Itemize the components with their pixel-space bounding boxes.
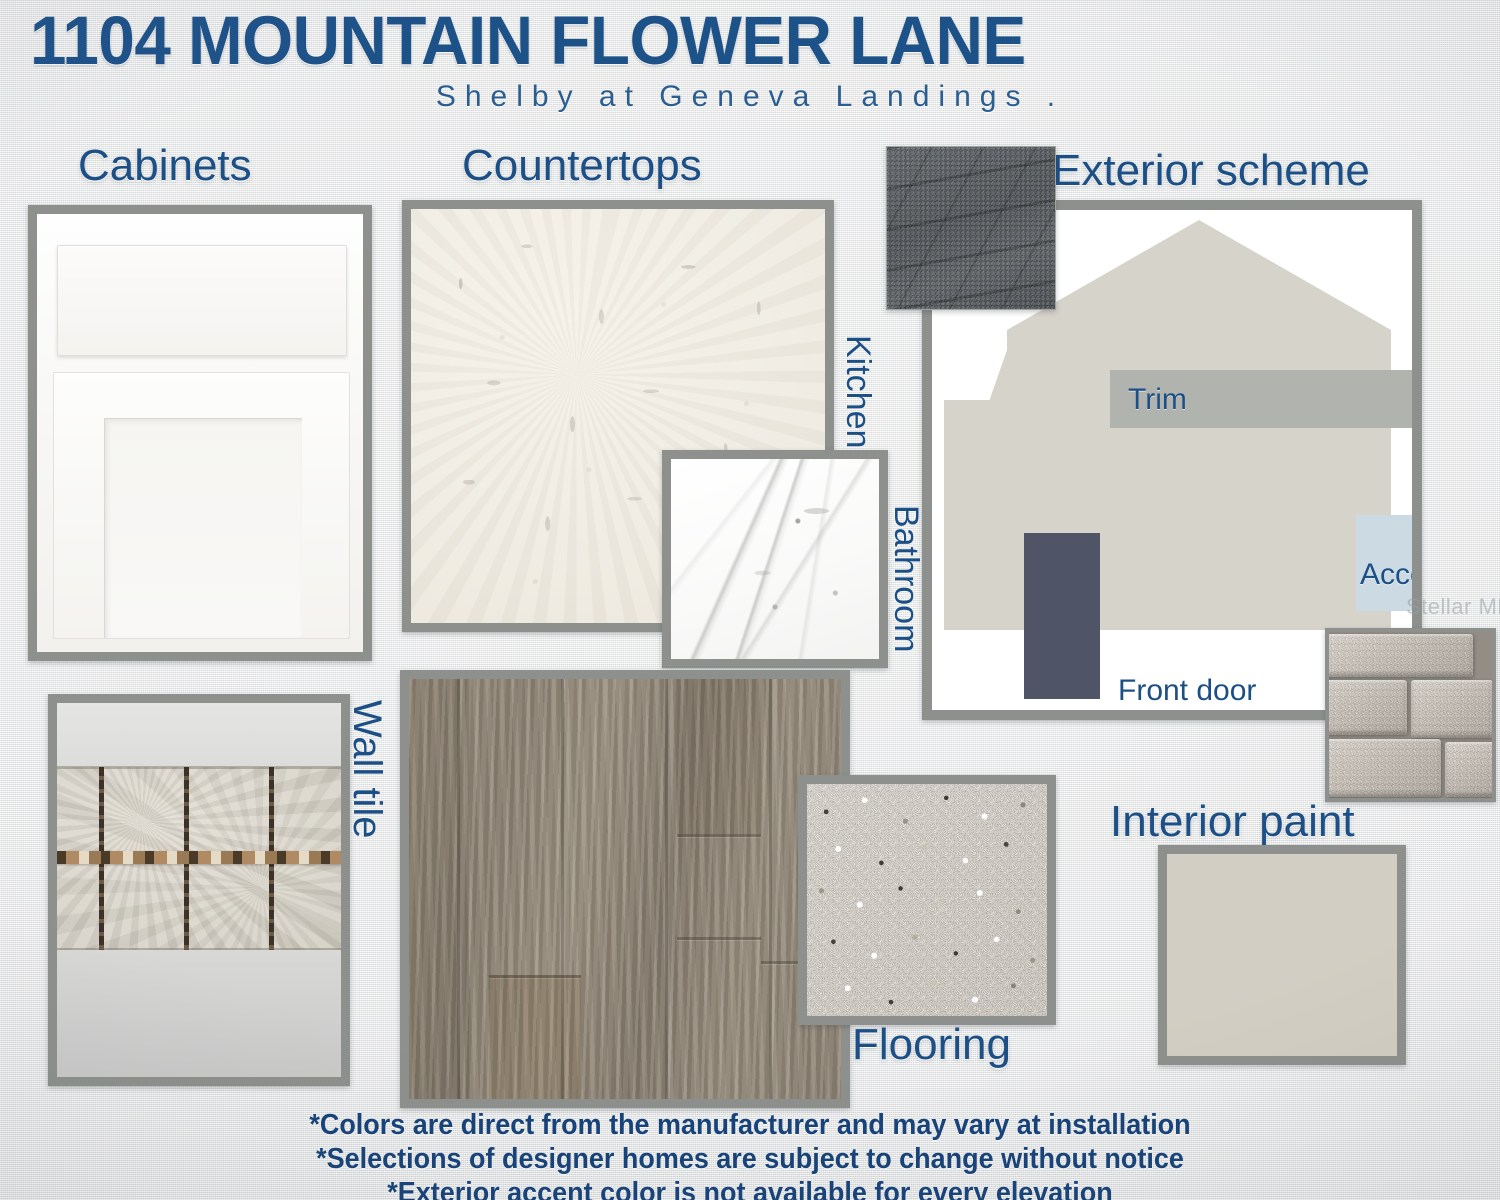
plank-tone-variation	[489, 975, 581, 1099]
mls-watermark: Stellar MLS	[1406, 594, 1500, 620]
interior-paint-swatch	[1158, 845, 1406, 1065]
page-title: 1104 MOUNTAIN FLOWER LANE	[30, 2, 1408, 80]
cabinets-swatch	[28, 205, 372, 661]
flooring-plank-swatch	[400, 670, 850, 1108]
wall-tile-swatch	[48, 694, 350, 1086]
front-door-label: Front door	[1118, 674, 1256, 708]
cabinet-door-image	[37, 214, 363, 652]
flooring-carpet-swatch	[798, 775, 1056, 1025]
cabinet-door-front	[53, 372, 350, 639]
section-label-exterior-scheme: Exterior scheme	[1052, 146, 1370, 196]
section-label-countertops: Countertops	[462, 141, 702, 191]
bathroom-marble-texture	[671, 459, 879, 659]
carpet-texture	[807, 784, 1047, 1016]
roof-shingle-swatch	[886, 146, 1056, 310]
section-label-cabinets: Cabinets	[78, 141, 252, 191]
cabinet-center-panel	[104, 418, 301, 638]
plank-seam	[677, 834, 761, 837]
footer-disclaimer-line-1: *Colors are direct from the manufacturer…	[53, 1110, 1448, 1140]
cabinet-drawer-front	[57, 245, 347, 357]
countertop-bathroom-label: Bathroom	[886, 505, 925, 652]
selection-board: 1104 MOUNTAIN FLOWER LANE Shelby at Gene…	[0, 0, 1500, 1200]
wall-tile-accent-strip	[57, 851, 341, 864]
wall-tile-texture	[57, 703, 341, 1077]
exterior-trim-label: Trim	[1128, 383, 1187, 417]
stone-texture	[1329, 632, 1492, 798]
section-label-flooring: Flooring	[852, 1020, 1011, 1070]
lvp-wood-texture	[409, 679, 841, 1099]
section-label-wall-tile: Wall tile	[344, 700, 389, 839]
section-label-interior-paint: Interior paint	[1110, 797, 1355, 847]
front-door-swatch	[1024, 533, 1100, 699]
interior-paint-color	[1167, 854, 1397, 1056]
stone-veneer-swatch	[1325, 628, 1496, 802]
house-main-body	[944, 400, 1391, 630]
plank-tone-variation	[677, 679, 761, 834]
plank-seam	[677, 937, 761, 940]
countertop-kitchen-label: Kitchen	[838, 335, 877, 448]
bathroom-countertop-swatch	[662, 450, 888, 668]
page-subtitle: Shelby at Geneva Landings .	[0, 80, 1500, 114]
footer-disclaimer-line-3: *Exterior accent color is not available …	[53, 1178, 1448, 1200]
house-gable-roof	[1007, 220, 1391, 330]
exterior-accent-label: Accent	[1360, 558, 1412, 592]
plank-tone-variation	[409, 679, 469, 1099]
footer-disclaimer-line-2: *Selections of designer homes are subjec…	[53, 1144, 1448, 1174]
